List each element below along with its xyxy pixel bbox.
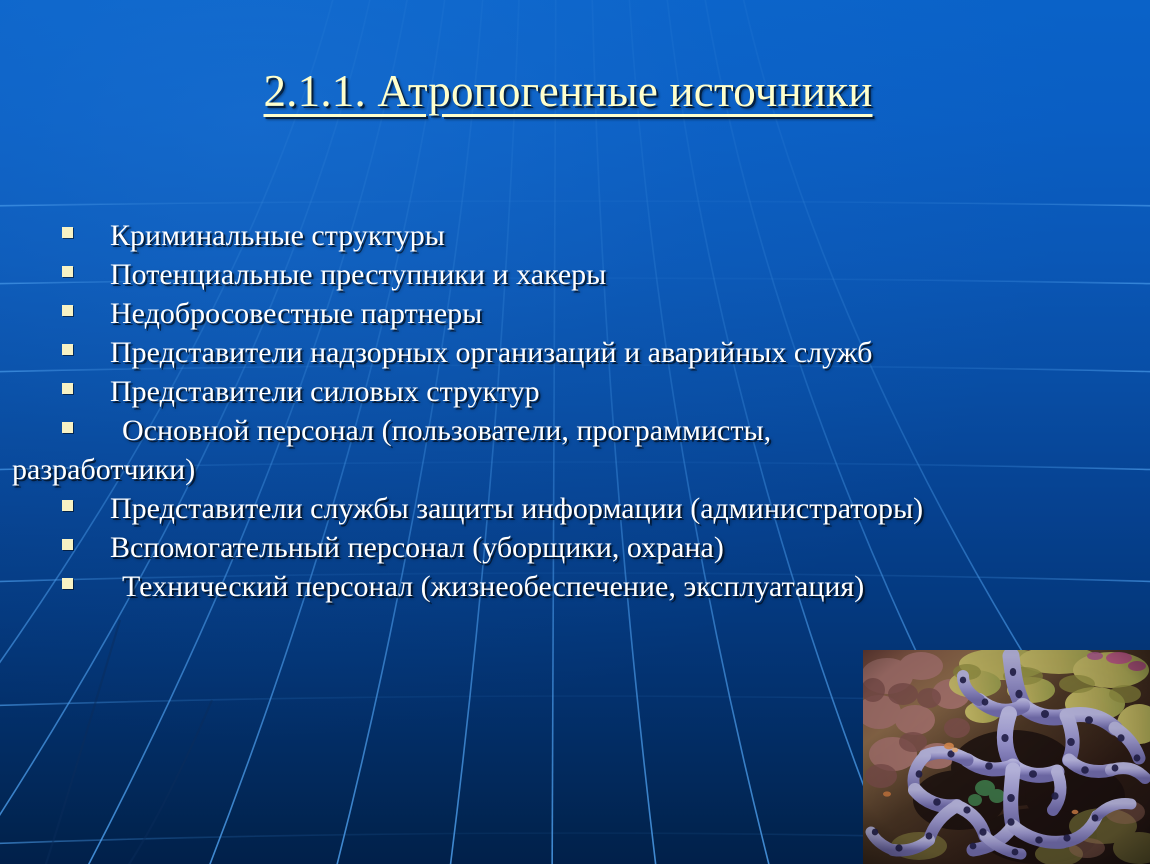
list-item-label: Основной персонал (пользователи, програм… — [110, 411, 1098, 450]
list-item: Представители силовых структур — [0, 372, 1098, 411]
bullet-square-icon — [62, 383, 73, 394]
bullet-square-icon — [62, 539, 73, 550]
list-item-label: Криминальные структуры — [110, 216, 1098, 255]
list-item: Основной персонал (пользователи, програм… — [0, 411, 1098, 489]
list-item-label: Вспомогательный персонал (уборщики, охра… — [110, 528, 1098, 567]
list-item-label: Технический персонал (жизнеобеспечение, … — [110, 567, 1098, 606]
list-item: Технический персонал (жизнеобеспечение, … — [0, 567, 1098, 606]
bullet-square-icon — [62, 227, 73, 238]
list-item: Вспомогательный персонал (уборщики, охра… — [0, 528, 1098, 567]
list-item: Представители надзорных организаций и ав… — [0, 333, 1098, 372]
list-item: Представители службы защиты информации (… — [0, 489, 1098, 528]
list-item-label: Представители надзорных организаций и ав… — [110, 333, 1098, 372]
list-item: Криминальные структуры — [0, 216, 1098, 255]
bullet-square-icon — [62, 422, 73, 433]
slide-canvas: 2.1.1. Атропогенные источники Криминальн… — [0, 0, 1150, 864]
list-item: Недобросовестные партнеры — [0, 294, 1098, 333]
list-item-label: Потенциальные преступники и хакеры — [110, 255, 1098, 294]
coral-reef-photo — [863, 650, 1150, 864]
bullet-square-icon — [62, 500, 73, 511]
page-title: 2.1.1. Атропогенные источники — [263, 66, 872, 116]
bullet-square-icon — [62, 266, 73, 277]
title-container: 2.1.1. Атропогенные источники — [0, 66, 1150, 116]
list-item: Потенциальные преступники и хакеры — [0, 255, 1098, 294]
bullet-square-icon — [62, 344, 73, 355]
bullet-square-icon — [62, 305, 73, 316]
bullet-list: Криминальные структуры Потенциальные пре… — [0, 216, 1098, 606]
bullet-square-icon — [62, 578, 73, 589]
list-item-label: Недобросовестные партнеры — [110, 294, 1098, 333]
list-item-label: Представители силовых структур — [110, 372, 1098, 411]
list-item-label-continued: разработчики) — [0, 450, 1098, 489]
list-item-label: Представители службы защиты информации (… — [110, 489, 1098, 528]
